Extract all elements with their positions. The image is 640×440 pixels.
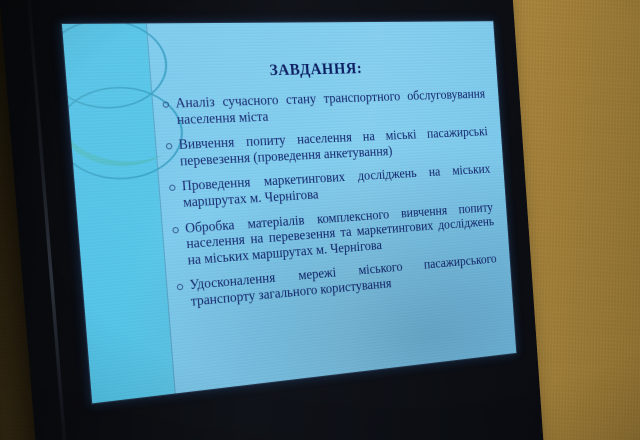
photo-vignette xyxy=(0,0,640,440)
photo-scene: ЗАВДАННЯ: Аналіз сучасного стану транспо… xyxy=(0,0,640,440)
